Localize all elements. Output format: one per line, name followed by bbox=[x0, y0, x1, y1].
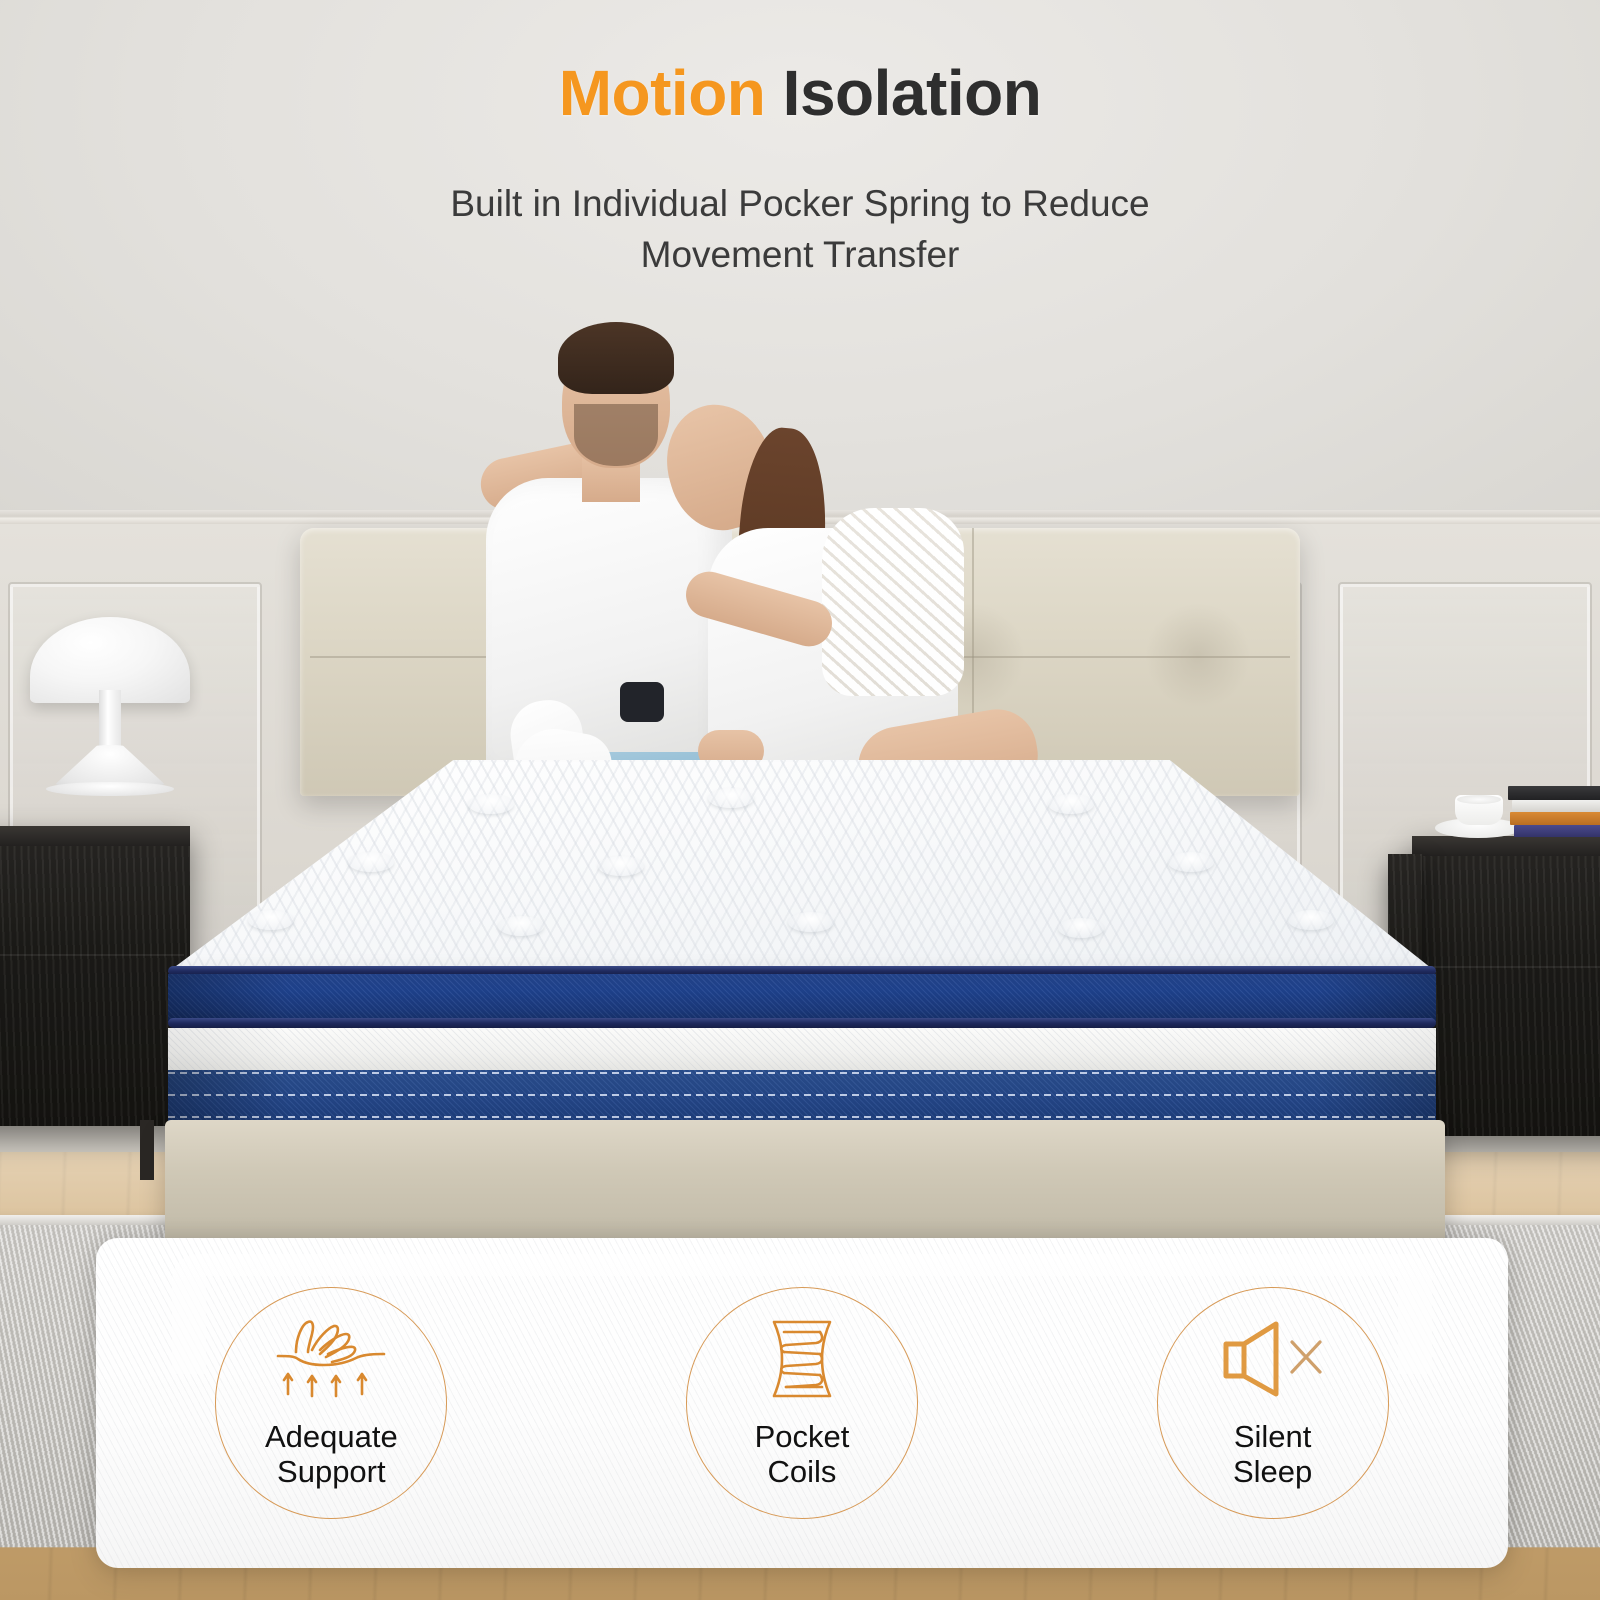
quilt-tuft bbox=[1168, 852, 1214, 872]
drawer-divider bbox=[0, 954, 184, 956]
coffee-cup bbox=[1455, 795, 1503, 825]
product-marketing-image: Motion Isolation Built in Individual Poc… bbox=[0, 0, 1600, 1600]
book-stack-middle bbox=[1512, 800, 1600, 812]
mattress-piping-lower bbox=[168, 1018, 1436, 1028]
quilt-tuft bbox=[348, 852, 394, 872]
quilt-tuft bbox=[788, 912, 834, 932]
man-beard bbox=[574, 404, 658, 466]
quilt-tuft bbox=[498, 916, 544, 936]
nightstand-left bbox=[0, 826, 190, 1126]
nightstand-top bbox=[1412, 836, 1600, 856]
feature-badge-list: Adequate Support bbox=[96, 1238, 1508, 1568]
title-accent-word: Motion bbox=[559, 57, 766, 129]
dome-table-lamp-foot bbox=[46, 782, 174, 796]
nightstand-leg bbox=[140, 1120, 154, 1180]
band-shading-left bbox=[168, 1028, 288, 1072]
book-stack-top bbox=[1508, 786, 1600, 800]
feature-badge-label: Silent Sleep bbox=[1233, 1420, 1312, 1489]
badge-label-line-1: Pocket bbox=[755, 1420, 850, 1455]
band-shading-left bbox=[168, 974, 288, 1022]
quilt-tuft bbox=[1058, 918, 1104, 938]
book-stack-purple bbox=[1514, 825, 1600, 837]
feature-badge-pocket-coils[interactable]: Pocket Coils bbox=[686, 1287, 918, 1519]
feature-card: Adequate Support bbox=[96, 1238, 1508, 1568]
subtitle-line-1: Built in Individual Pocker Spring to Red… bbox=[0, 178, 1600, 229]
feature-badge-label: Pocket Coils bbox=[755, 1420, 850, 1489]
muted-speaker-icon bbox=[1218, 1316, 1328, 1402]
man-wristwatch bbox=[620, 682, 664, 722]
quilt-tuft bbox=[598, 856, 644, 876]
mattress bbox=[168, 760, 1436, 1172]
book-stack-orange bbox=[1510, 812, 1600, 825]
hand-on-mattress-support-icon bbox=[272, 1316, 390, 1402]
title-rest: Isolation bbox=[765, 57, 1041, 129]
feature-badge-silent-sleep[interactable]: Silent Sleep bbox=[1157, 1287, 1389, 1519]
pocket-coil-spring-icon bbox=[764, 1316, 840, 1402]
drawer-divider bbox=[1418, 966, 1600, 968]
quilt-tuft bbox=[1288, 910, 1334, 930]
page-title: Motion Isolation bbox=[0, 56, 1600, 130]
woman-lace-sleeve bbox=[822, 508, 964, 696]
nightstand-right bbox=[1412, 836, 1600, 1136]
badge-label-line-2: Sleep bbox=[1233, 1455, 1312, 1490]
quilt-tuft bbox=[248, 910, 294, 930]
page-subtitle: Built in Individual Pocker Spring to Red… bbox=[0, 178, 1600, 280]
band-shading-right bbox=[1316, 1028, 1436, 1072]
quilt-tuft bbox=[1048, 794, 1094, 814]
badge-label-line-1: Adequate bbox=[265, 1420, 398, 1455]
base-stitch-line bbox=[168, 1094, 1436, 1096]
feature-badge-label: Adequate Support bbox=[265, 1420, 398, 1489]
bed-base bbox=[165, 1120, 1445, 1250]
badge-label-line-2: Support bbox=[265, 1455, 398, 1490]
mattress-white-foam-band bbox=[168, 1028, 1436, 1072]
quilt-tuft bbox=[468, 794, 514, 814]
man-hair bbox=[558, 322, 674, 394]
mattress-quilted-top bbox=[168, 760, 1436, 972]
band-shading-right bbox=[1316, 974, 1436, 1022]
base-stitch-line bbox=[168, 1072, 1436, 1074]
nightstand-top bbox=[0, 826, 190, 846]
badge-label-line-1: Silent bbox=[1233, 1420, 1312, 1455]
base-stitch-line bbox=[168, 1116, 1436, 1118]
badge-label-line-2: Coils bbox=[755, 1455, 850, 1490]
mattress-blue-comfort-band bbox=[168, 974, 1436, 1022]
quilt-tuft bbox=[708, 788, 754, 808]
subtitle-line-2: Movement Transfer bbox=[0, 229, 1600, 280]
feature-badge-adequate-support[interactable]: Adequate Support bbox=[215, 1287, 447, 1519]
